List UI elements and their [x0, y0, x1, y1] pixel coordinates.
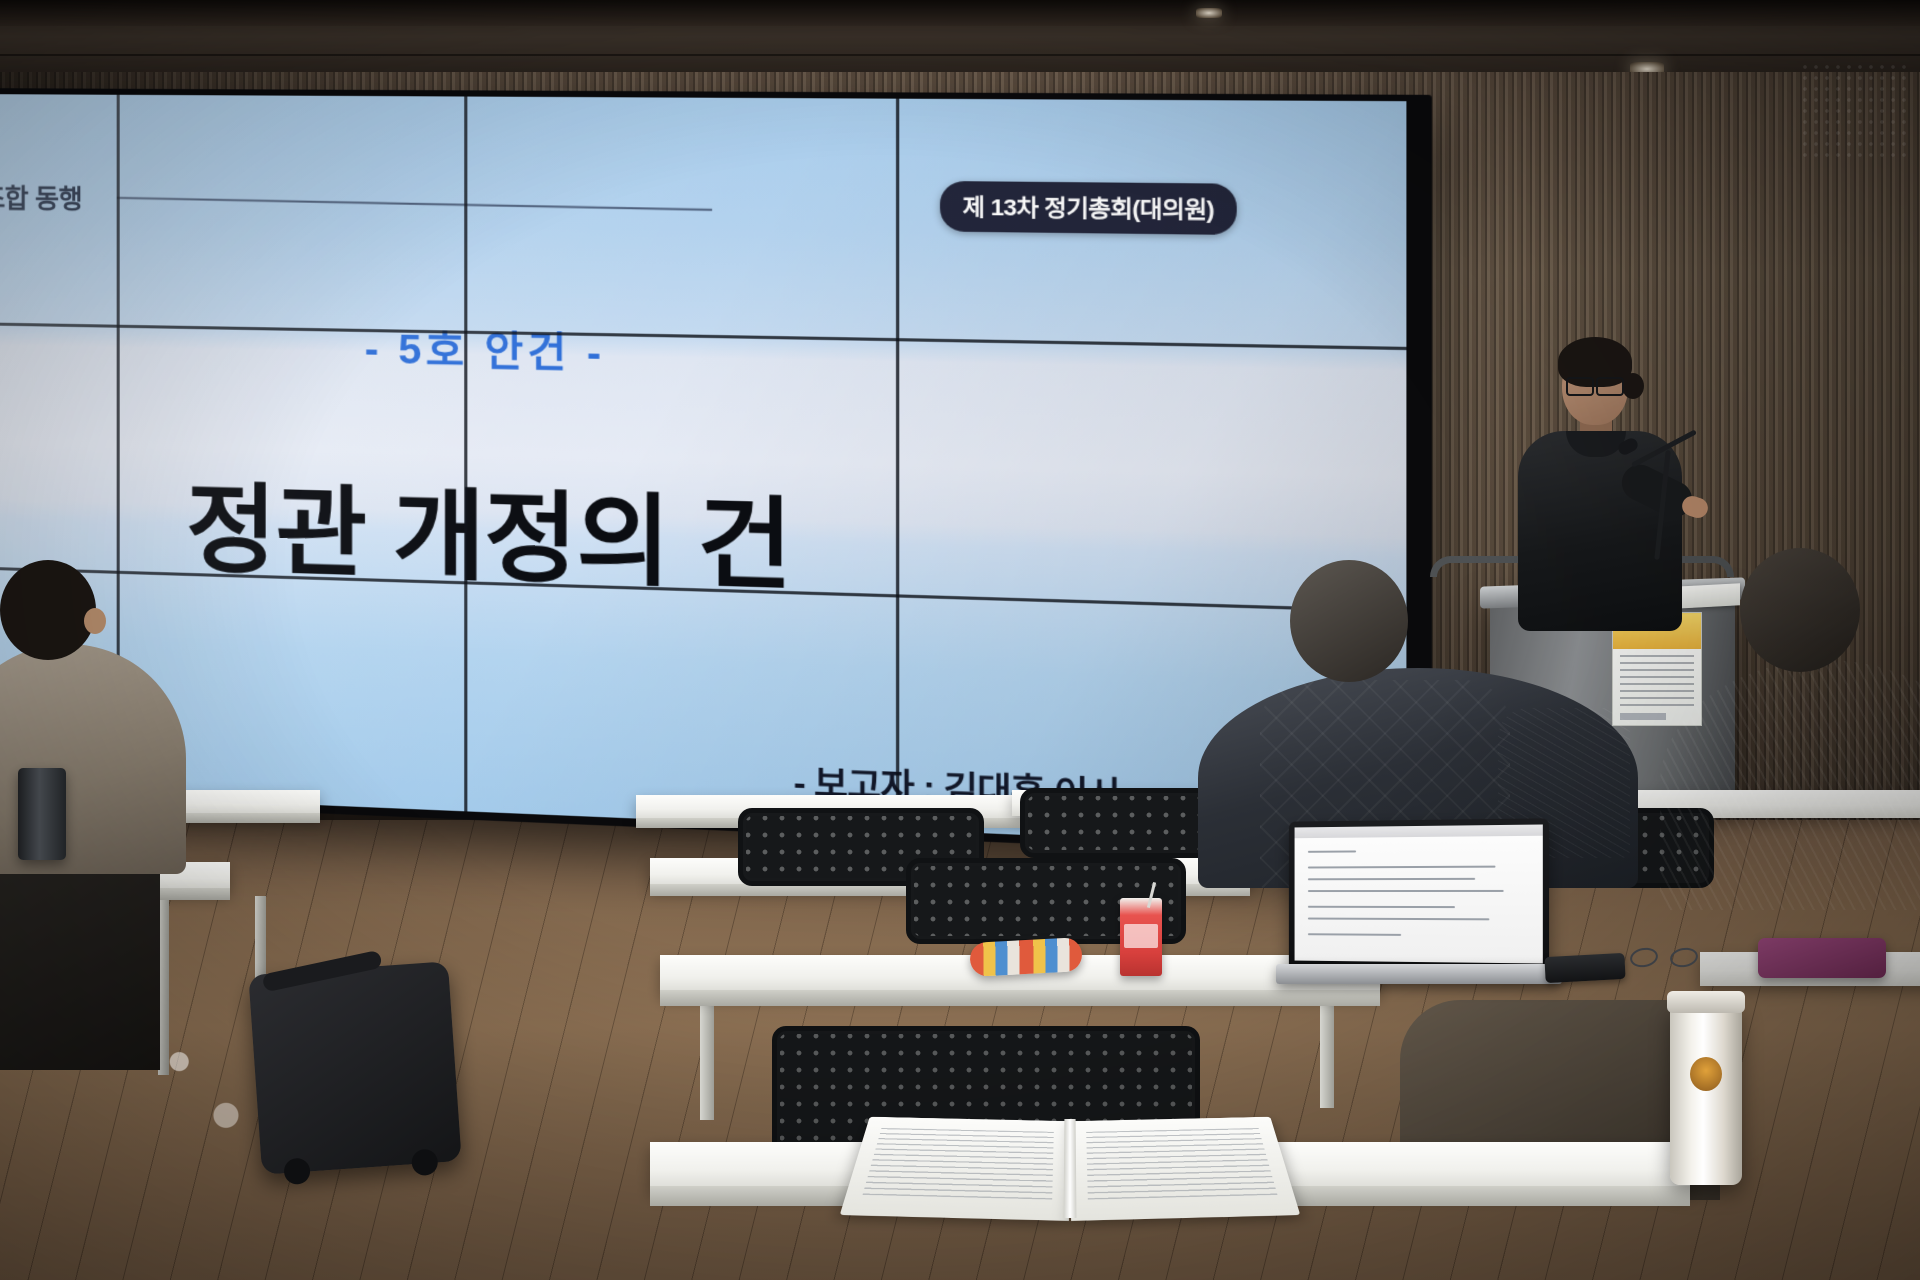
desk-leg: [1320, 998, 1334, 1108]
ceiling-seam: [0, 54, 1920, 56]
attendee-body: [1660, 660, 1920, 910]
slide-title: 정관 개정의 건: [0, 436, 1406, 628]
book-right-page: [1071, 1117, 1300, 1221]
tumbler-lid: [1667, 991, 1745, 1013]
desk-edge: [660, 990, 1380, 1006]
laptop-text-line: [1308, 850, 1356, 852]
presentation-slide: 동조합 동행 제 13차 정기총회(대의원) - 5호 안건 - 정관 개정의 …: [0, 94, 1406, 851]
attendee-right-grey-coat: [1680, 548, 1920, 878]
attendee-head: [0, 560, 96, 660]
laptop-text-line: [1308, 878, 1475, 880]
ceiling-light-icon: [1196, 8, 1222, 18]
laptop-text-line: [1308, 906, 1455, 908]
book-text-lines: [1086, 1128, 1277, 1200]
video-wall-screen: 동조합 동행 제 13차 정기총회(대의원) - 5호 안건 - 정관 개정의 …: [0, 94, 1406, 851]
laptop-text-line: [1308, 866, 1496, 869]
book-spine: [1064, 1119, 1077, 1218]
session-badge: 제 13차 정기총회(대의원): [941, 181, 1237, 235]
desk-leg: [700, 1000, 714, 1120]
presenter-glasses-icon: [1566, 377, 1624, 392]
tote-bag[interactable]: [146, 1012, 264, 1178]
tumbler-badge-icon: [1690, 1057, 1722, 1091]
laptop-text-line: [1308, 933, 1401, 936]
black-cup[interactable]: [18, 768, 66, 860]
laptop-text-line: [1308, 890, 1504, 892]
slide-organization-name: 동조합 동행: [0, 178, 82, 216]
agenda-number: - 5호 안건 -: [0, 304, 1406, 396]
rolling-suitcase[interactable]: [248, 961, 461, 1174]
attendee-center-vest: [1230, 560, 1610, 860]
slide-header-rule: [117, 197, 712, 211]
laptop-toolbar: [1295, 824, 1543, 838]
eyeglasses-icon[interactable]: [1630, 946, 1698, 968]
laptop-display: [1295, 824, 1543, 963]
attendee-head: [1290, 560, 1408, 682]
ceiling-strip: [0, 0, 1920, 26]
laptop-keyboard-base[interactable]: [1276, 964, 1562, 984]
attendee-head: [1740, 548, 1860, 672]
attendee-ear: [84, 608, 106, 634]
speaker-grille-icon: [1800, 62, 1908, 158]
video-wall-bezel: [464, 97, 467, 812]
juice-label: [1124, 924, 1158, 948]
book-left-page: [840, 1117, 1069, 1221]
juice-carton[interactable]: [1120, 898, 1162, 976]
purple-pouch[interactable]: [1758, 938, 1886, 978]
open-book[interactable]: [839, 1119, 1301, 1218]
laptop-text-line: [1308, 918, 1489, 921]
laptop-screen[interactable]: [1289, 818, 1549, 969]
smartphone[interactable]: [1544, 953, 1625, 983]
pencil-case[interactable]: [969, 937, 1083, 977]
presenter-hair-bun: [1622, 373, 1644, 399]
book-text-lines: [863, 1128, 1054, 1200]
conference-room-scene: 동조합 동행 제 13차 정기총회(대의원) - 5호 안건 - 정관 개정의 …: [0, 0, 1920, 1280]
insulated-tumbler[interactable]: [1670, 1005, 1742, 1185]
video-wall-bezel: [896, 99, 899, 830]
